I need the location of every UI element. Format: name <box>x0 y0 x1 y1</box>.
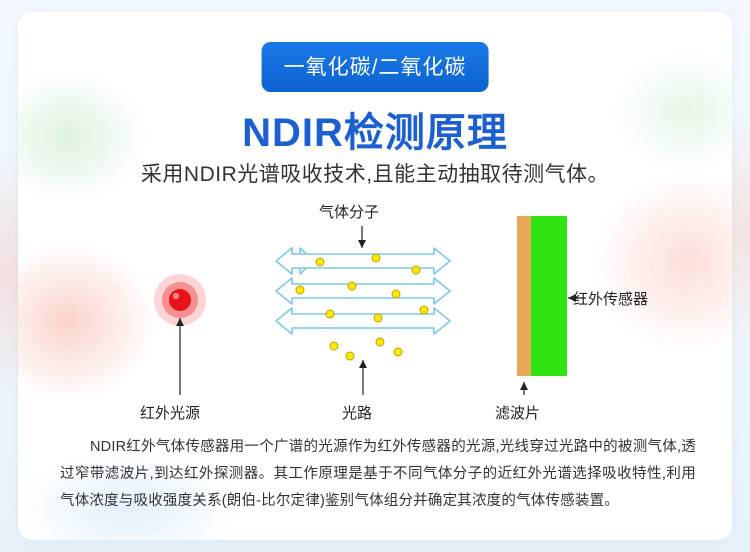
gas-molecule-dots <box>296 254 428 360</box>
page-title: NDIR检测原理 <box>18 100 732 158</box>
label-ir-sensor: 红外传感器 <box>573 288 648 309</box>
label-filter: 滤波片 <box>495 402 540 423</box>
label-ir-source: 红外光源 <box>140 402 200 423</box>
filter-sensor-block <box>517 216 567 376</box>
leader-line-ir-source <box>176 318 184 395</box>
leader-line-gas-molecule <box>358 226 366 248</box>
page-subtitle: 采用NDIR光谱吸收技术,且能主动抽取待测气体。 <box>18 158 732 188</box>
label-light-path: 光路 <box>342 402 372 423</box>
leader-line-light-path <box>359 360 367 395</box>
leader-line-filter <box>520 382 528 395</box>
page-root: 一氧化碳/二氧化碳 NDIR检测原理 采用NDIR光谱吸收技术,且能主动抽取待测… <box>0 0 750 552</box>
ndir-diagram <box>0 190 750 430</box>
description-paragraph: NDIR红外气体传感器用一个广谱的光源作为红外传感器的光源,光线穿过光路中的被测… <box>60 434 696 515</box>
label-gas-molecule: 气体分子 <box>319 201 379 222</box>
category-badge: 一氧化碳/二氧化碳 <box>262 42 489 92</box>
